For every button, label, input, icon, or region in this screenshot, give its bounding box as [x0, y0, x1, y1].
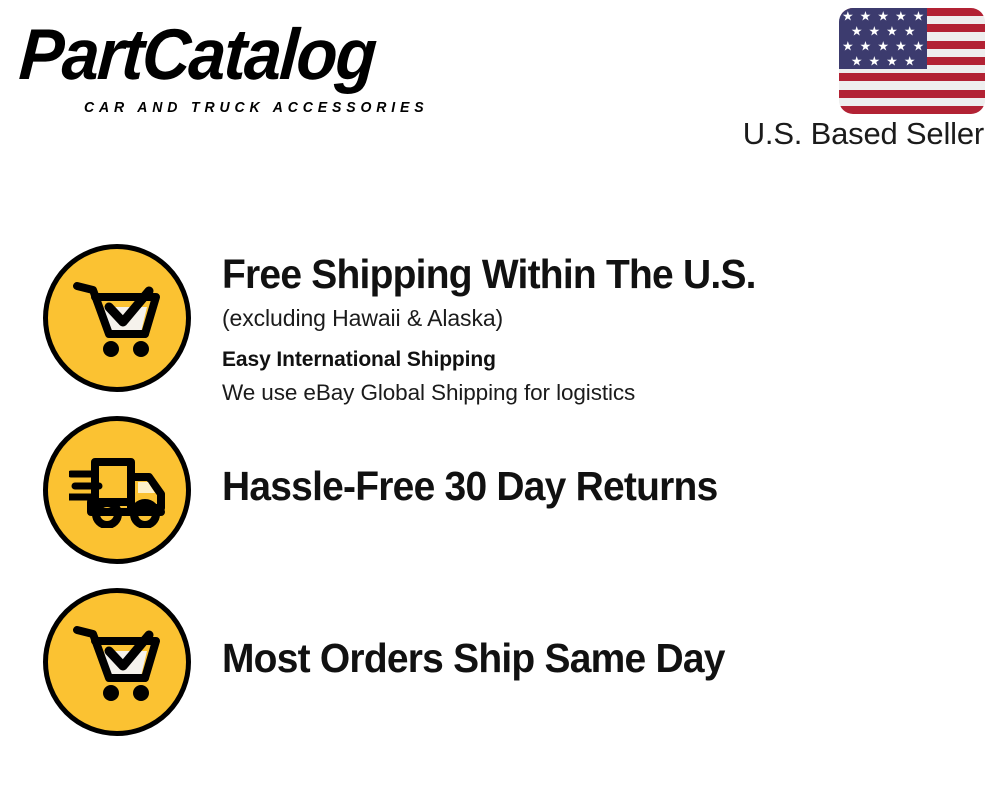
flag-star: ★ — [894, 40, 907, 53]
shopping-cart-check-icon — [43, 588, 191, 736]
flag-star: ★ — [850, 55, 863, 68]
flag-stripe — [839, 106, 985, 114]
brand-tagline: CAR AND TRUCK ACCESSORIES — [84, 100, 428, 116]
flag-star: ★ — [912, 40, 925, 53]
flag-star: ★ — [885, 24, 898, 37]
delivery-truck-icon — [43, 416, 191, 564]
feature-title: Hassle-Free 30 Day Returns — [222, 462, 961, 510]
flag-star: ★ — [877, 40, 890, 53]
feature-text-block: Hassle-Free 30 Day Returns — [222, 416, 1000, 510]
flag-stripe — [839, 98, 985, 106]
flag-star: ★ — [859, 40, 872, 53]
feature-row: Most Orders Ship Same Day — [0, 588, 1000, 736]
flag-stripe — [839, 73, 985, 81]
flag-star: ★ — [850, 24, 863, 37]
brand-wordmark: PartCatalog — [17, 18, 459, 92]
feature-text-block: Most Orders Ship Same Day — [222, 588, 1000, 682]
flag-star: ★ — [903, 55, 916, 68]
flag-star: ★ — [877, 9, 890, 22]
flag-star: ★ — [885, 55, 898, 68]
flag-star: ★ — [841, 9, 854, 22]
flag-star: ★ — [894, 9, 907, 22]
feature-row: Free Shipping Within The U.S. (excluding… — [0, 244, 1000, 409]
feature-subtext: (excluding Hawaii & Alaska) — [222, 301, 1000, 335]
us-based-seller-label: U.S. Based Seller — [714, 116, 986, 152]
feature-title: Free Shipping Within The U.S. — [222, 250, 961, 298]
us-based-seller-badge: ★★★★★★★★★★★★★★★★★★ U.S. Based Seller — [714, 8, 986, 152]
feature-subheading: Easy International Shipping — [222, 344, 1000, 376]
flag-canton: ★★★★★★★★★★★★★★★★★★ — [839, 8, 927, 69]
feature-text-block: Free Shipping Within The U.S. (excluding… — [222, 244, 1000, 409]
shopping-cart-check-icon — [43, 244, 191, 392]
flag-star: ★ — [841, 40, 854, 53]
page-header: PartCatalog CAR AND TRUCK ACCESSORIES ★★… — [0, 0, 1000, 170]
brand-logo: PartCatalog CAR AND TRUCK ACCESSORIES — [22, 18, 492, 118]
feature-title: Most Orders Ship Same Day — [222, 634, 961, 682]
us-flag-icon: ★★★★★★★★★★★★★★★★★★ — [839, 8, 985, 114]
flag-star: ★ — [912, 9, 925, 22]
flag-star: ★ — [868, 55, 881, 68]
flag-star: ★ — [859, 9, 872, 22]
flag-star: ★ — [903, 24, 916, 37]
feature-note: We use eBay Global Shipping for logistic… — [222, 377, 1000, 409]
flag-star: ★ — [868, 24, 881, 37]
flag-stripe — [839, 90, 985, 98]
feature-row: Hassle-Free 30 Day Returns — [0, 416, 1000, 564]
flag-stripe — [839, 81, 985, 89]
